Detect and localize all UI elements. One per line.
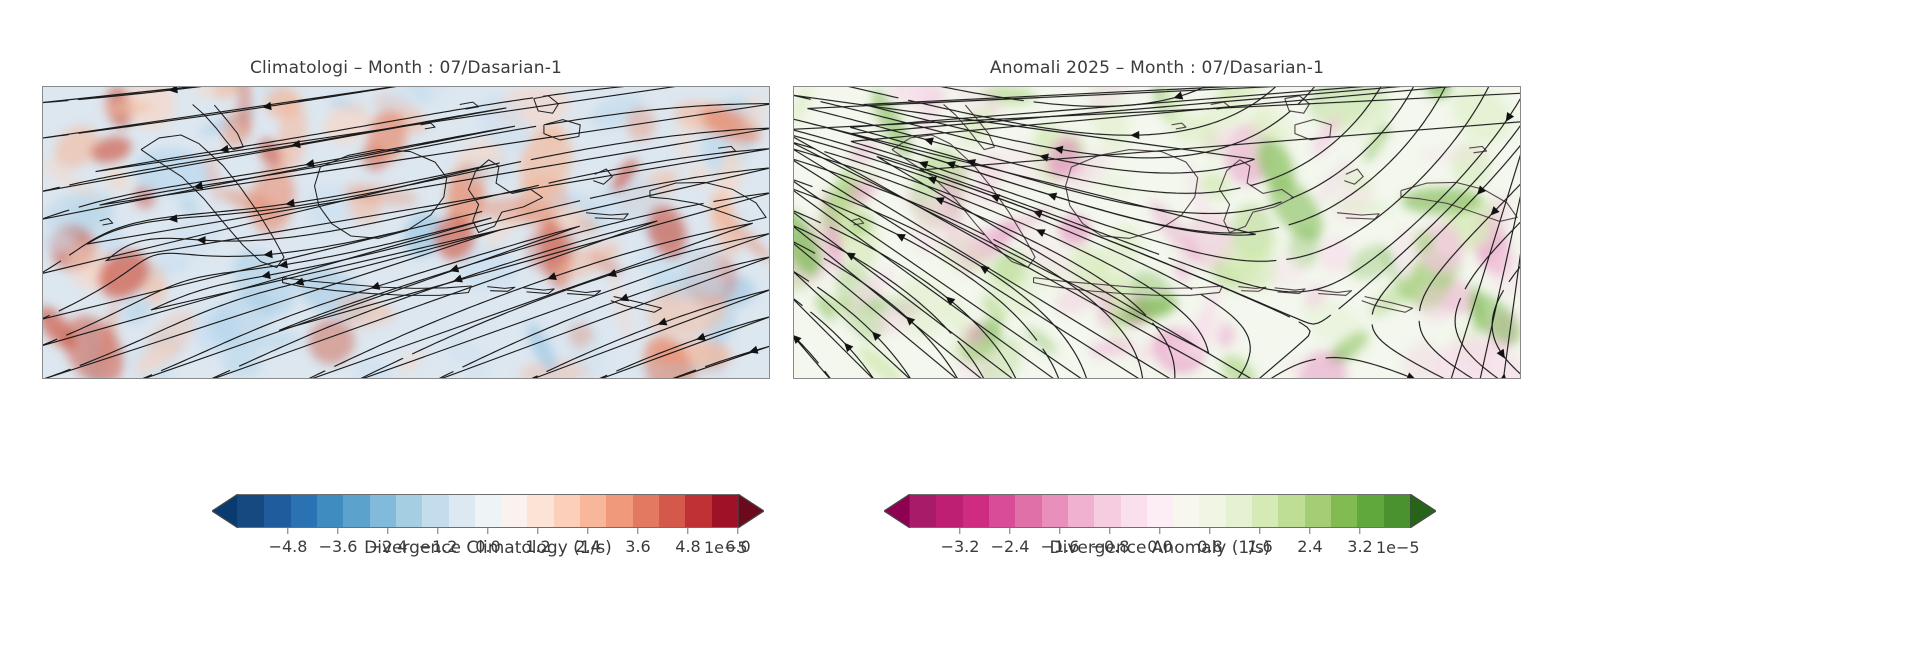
colorbar-tick-label: 0.0 (1147, 537, 1172, 556)
colorbar-swatch (317, 495, 343, 527)
colorbar-tick-label: −1.2 (419, 537, 458, 556)
colorbar-swatch (370, 495, 396, 527)
colorbar-tick-mark (687, 528, 688, 534)
colorbar-swatch (1042, 495, 1068, 527)
colorbar-tick-label: 3.2 (1347, 537, 1372, 556)
colorbar-tick-label: −2.4 (991, 537, 1030, 556)
colorbar-swatch (712, 495, 738, 527)
colorbar-tick-label: −4.8 (269, 537, 308, 556)
colorbar-tick-mark (337, 528, 338, 534)
colorbar-offset-anomaly: 1e−5 (1376, 538, 1420, 557)
colorbar-tick-mark (1109, 528, 1110, 534)
colorbar-swatch (264, 495, 290, 527)
colorbar-tick-mark (487, 528, 488, 534)
colorbar-tick-label: 1.2 (525, 537, 550, 556)
colorbar-swatch (1121, 495, 1147, 527)
colorbar-swatch (475, 495, 501, 527)
panel-title-anomaly: Anomali 2025 – Month : 07/Dasarian-1 (793, 58, 1521, 78)
colorbar-swatch (633, 495, 659, 527)
colorbar-swatch (1147, 495, 1173, 527)
colorbar-swatch (1226, 495, 1252, 527)
colorbar-tick-mark (537, 528, 538, 534)
colorbar-swatch (501, 495, 527, 527)
map-axes-climatology[interactable] (42, 86, 770, 379)
colorbar-tick-label: −3.6 (319, 537, 358, 556)
colorbar-swatch (963, 495, 989, 527)
colorbar-tick-label: −2.4 (369, 537, 408, 556)
colorbar-tick-mark (959, 528, 960, 534)
colorbar-tick-mark (1259, 528, 1260, 534)
colorbar-swatch (396, 495, 422, 527)
colorbar-swatch (422, 495, 448, 527)
colorbar-swatch (1094, 495, 1120, 527)
map-canvas (794, 87, 1520, 378)
colorbar-tick-label: 4.8 (675, 537, 700, 556)
colorbar-tick-label: 1.6 (1247, 537, 1272, 556)
colorbar-tick-label: −1.6 (1041, 537, 1080, 556)
colorbar-swatch (1384, 495, 1410, 527)
colorbar-tick-mark (1159, 528, 1160, 534)
colorbar-tick-label: 2.4 (575, 537, 600, 556)
colorbar-tick-mark (437, 528, 438, 534)
colorbar-tick-mark (637, 528, 638, 534)
colorbar-swatch (989, 495, 1015, 527)
colorbar-extend-min-icon (212, 494, 238, 528)
colorbar-extend-max-icon (738, 494, 764, 528)
panel-title-climatology: Climatologi – Month : 07/Dasarian-1 (42, 58, 770, 78)
colorbar-tick-mark (287, 528, 288, 534)
panel-climatology: Climatologi – Month : 07/Dasarian-1 (42, 86, 770, 379)
colorbar-swatch (685, 495, 711, 527)
colorbar-swatch (343, 495, 369, 527)
map-canvas (43, 87, 769, 378)
colorbar-tick-mark (587, 528, 588, 534)
colorbar-tick-label: 0.8 (1197, 537, 1222, 556)
colorbar-tick-mark (737, 528, 738, 534)
colorbar-swatch (238, 495, 264, 527)
colorbar-swatch (1357, 495, 1383, 527)
colorbar-swatch (580, 495, 606, 527)
panel-anomaly: Anomali 2025 – Month : 07/Dasarian-1 (793, 86, 1521, 379)
colorbar-swatch (527, 495, 553, 527)
colorbar-extend-min-icon (884, 494, 910, 528)
colorbar-climatology[interactable]: Divergence Climatology (1/s) 1e−5 −4.8−3… (212, 494, 764, 528)
colorbar-swatch (1015, 495, 1041, 527)
colorbar-gradient (238, 494, 738, 528)
colorbar-tick-mark (1009, 528, 1010, 534)
map-axes-anomaly[interactable] (793, 86, 1521, 379)
colorbar-tick-label: −0.8 (1091, 537, 1130, 556)
colorbar-tick-mark (1209, 528, 1210, 534)
colorbar-swatch (1331, 495, 1357, 527)
colorbar-tick-label: 3.6 (625, 537, 650, 556)
colorbar-tick-mark (1309, 528, 1310, 534)
colorbar-swatch (1278, 495, 1304, 527)
colorbar-swatch (659, 495, 685, 527)
figure-canvas: Climatologi – Month : 07/Dasarian-1 Dive… (0, 0, 1920, 669)
colorbar-swatch (1305, 495, 1331, 527)
colorbar-swatch (291, 495, 317, 527)
colorbar-tick-label: −3.2 (941, 537, 980, 556)
colorbar-anomaly[interactable]: Divergence Anomaly (1/s) 1e−5 −3.2−2.4−1… (884, 494, 1436, 528)
colorbar-swatch (606, 495, 632, 527)
colorbar-extend-max-icon (1410, 494, 1436, 528)
colorbar-tick-mark (387, 528, 388, 534)
colorbar-gradient (910, 494, 1410, 528)
colorbar-tick-label: 2.4 (1297, 537, 1322, 556)
colorbar-swatch (936, 495, 962, 527)
colorbar-swatch (1173, 495, 1199, 527)
colorbar-tick-mark (1359, 528, 1360, 534)
colorbar-swatch (554, 495, 580, 527)
colorbar-tick-mark (1059, 528, 1060, 534)
colorbar-swatch (1199, 495, 1225, 527)
colorbar-tick-label: 0.0 (475, 537, 500, 556)
colorbar-swatch (910, 495, 936, 527)
colorbar-swatch (1252, 495, 1278, 527)
colorbar-swatch (1068, 495, 1094, 527)
colorbar-swatch (449, 495, 475, 527)
colorbar-tick-label: 6.0 (725, 537, 750, 556)
